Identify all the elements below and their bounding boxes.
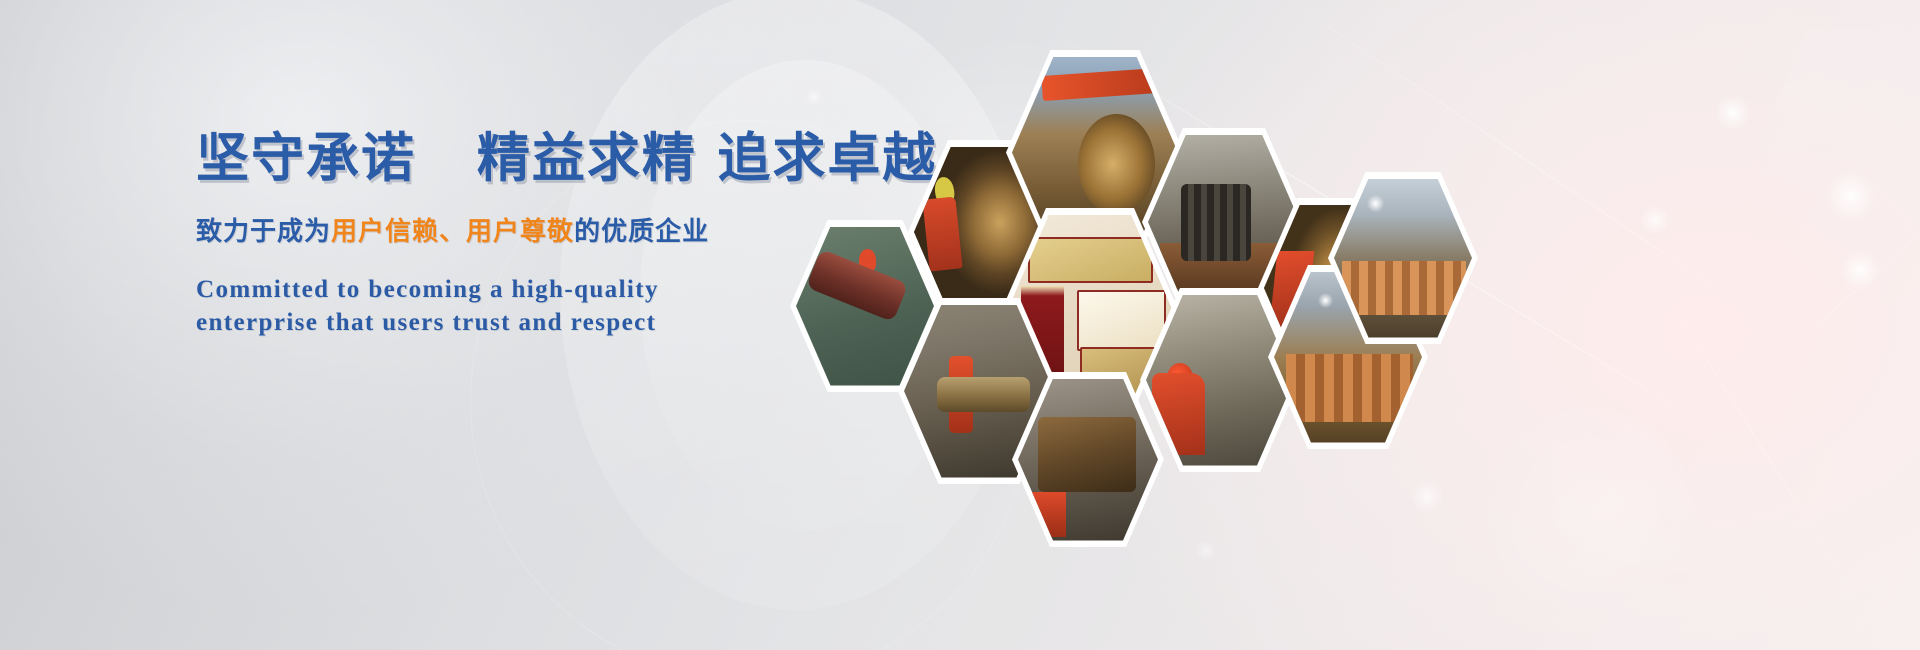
diagonal-line: [1620, 220, 1896, 650]
subtitle-highlight-2: 用户尊敬: [466, 217, 574, 247]
light-flare: [1195, 540, 1217, 562]
light-flare: [1825, 170, 1877, 222]
light-flare: [1715, 95, 1751, 131]
subtitle-highlight-1: 用户信赖: [331, 217, 439, 247]
headline-phrase-2: 精益求精: [477, 128, 697, 189]
certificate-plaque: [1028, 237, 1153, 283]
background-glow-circle-right: [1470, 390, 1710, 630]
light-flare: [1640, 205, 1670, 235]
promo-banner: 坚守承诺 精益求精 追求卓越 致力于成为用户信赖、用户尊敬的优质企业 Commi…: [0, 0, 1920, 650]
photo-engine-overhaul: [1018, 379, 1158, 541]
diagonal-line: [1700, 149, 1920, 431]
photo-workshop-hall: [1334, 179, 1472, 338]
background-hexagon-outline: [1760, 30, 1920, 250]
photo-red-crew: [1146, 295, 1294, 466]
light-flare: [1840, 250, 1880, 290]
hexagon-collage: [770, 50, 1450, 520]
background-hexagon-outline: [1570, 480, 1720, 650]
subtitle-separator: 、: [439, 217, 466, 247]
certificate-plaque: [1077, 290, 1166, 351]
subtitle-suffix: 的优质企业: [574, 217, 709, 247]
headline-phrase-1: 坚守承诺: [196, 128, 416, 189]
subtitle-prefix: 致力于成为: [196, 217, 331, 247]
